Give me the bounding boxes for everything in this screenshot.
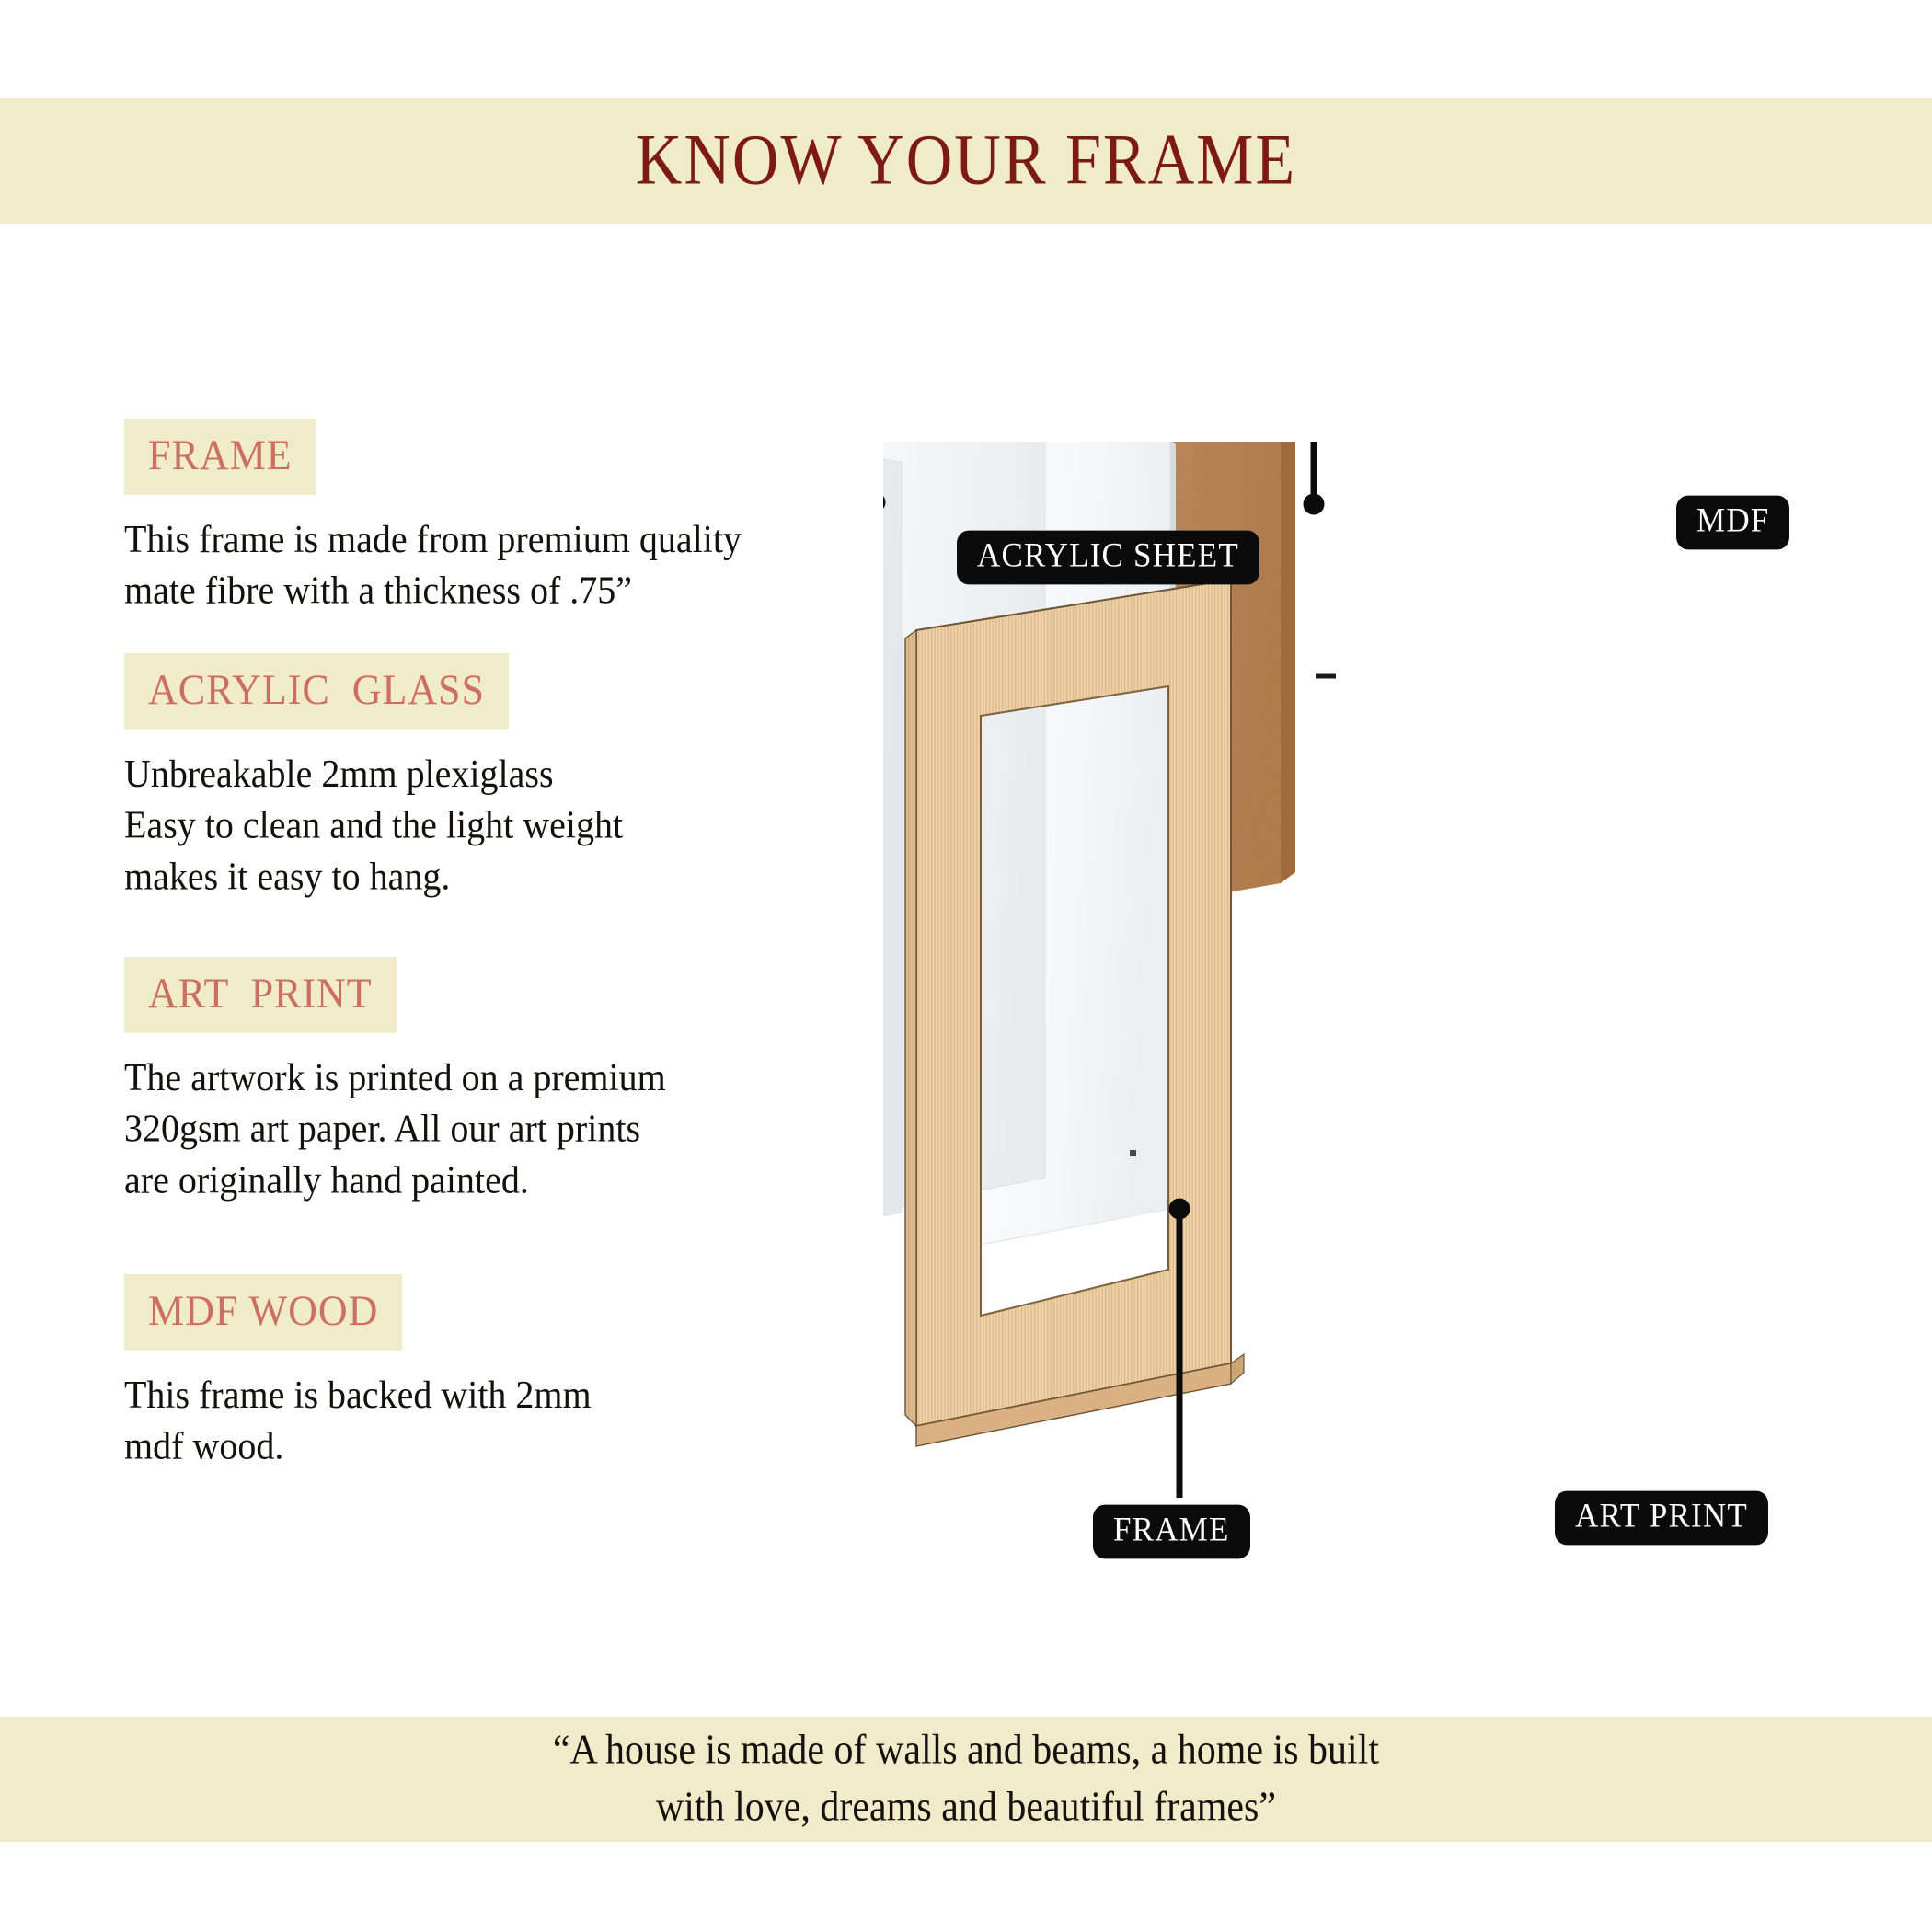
art-print-speck (1130, 1150, 1136, 1156)
callout-frame[interactable]: FRAME (1093, 1505, 1250, 1559)
footer-quote: “A house is made of walls and beams, a h… (553, 1723, 1379, 1835)
section-body-mdf-wood: This frame is backed with 2mm mdf wood. (124, 1370, 592, 1472)
spec-section-acrylic-glass: ACRYLIC GLASS Unbreakable 2mm plexiglass… (124, 653, 623, 894)
section-heading-art-print: ART PRINT (124, 957, 397, 1033)
section-heading-frame: FRAME (124, 419, 316, 495)
section-body-art-print: The artwork is printed on a premium 320g… (124, 1052, 666, 1205)
spec-section-mdf-wood: MDF WOOD This frame is backed with 2mm m… (124, 1274, 592, 1467)
diagram-layer-acrylic-sheet (883, 442, 902, 1277)
header-band: KNOW YOUR FRAME (0, 98, 1932, 224)
spec-section-frame: FRAME This frame is made from premium qu… (124, 419, 742, 612)
section-body-acrylic-glass: Unbreakable 2mm plexiglass Easy to clean… (124, 749, 623, 902)
section-body-frame: This frame is made from premium quality … (124, 514, 742, 616)
section-heading-acrylic-glass: ACRYLIC GLASS (124, 653, 509, 730)
spec-section-art-print: ART PRINT The artwork is printed on a pr… (124, 957, 666, 1198)
callout-acrylic-sheet[interactable]: ACRYLIC SHEET (957, 531, 1259, 585)
footer-band: “A house is made of walls and beams, a h… (0, 1717, 1932, 1842)
callout-art-print[interactable]: ART PRINT (1555, 1491, 1768, 1546)
page-title: KNOW YOUR FRAME (636, 120, 1296, 202)
section-heading-mdf-wood: MDF WOOD (124, 1274, 402, 1351)
callout-mdf[interactable]: MDF (1676, 496, 1789, 550)
exploded-frame-diagram (883, 442, 1877, 1601)
